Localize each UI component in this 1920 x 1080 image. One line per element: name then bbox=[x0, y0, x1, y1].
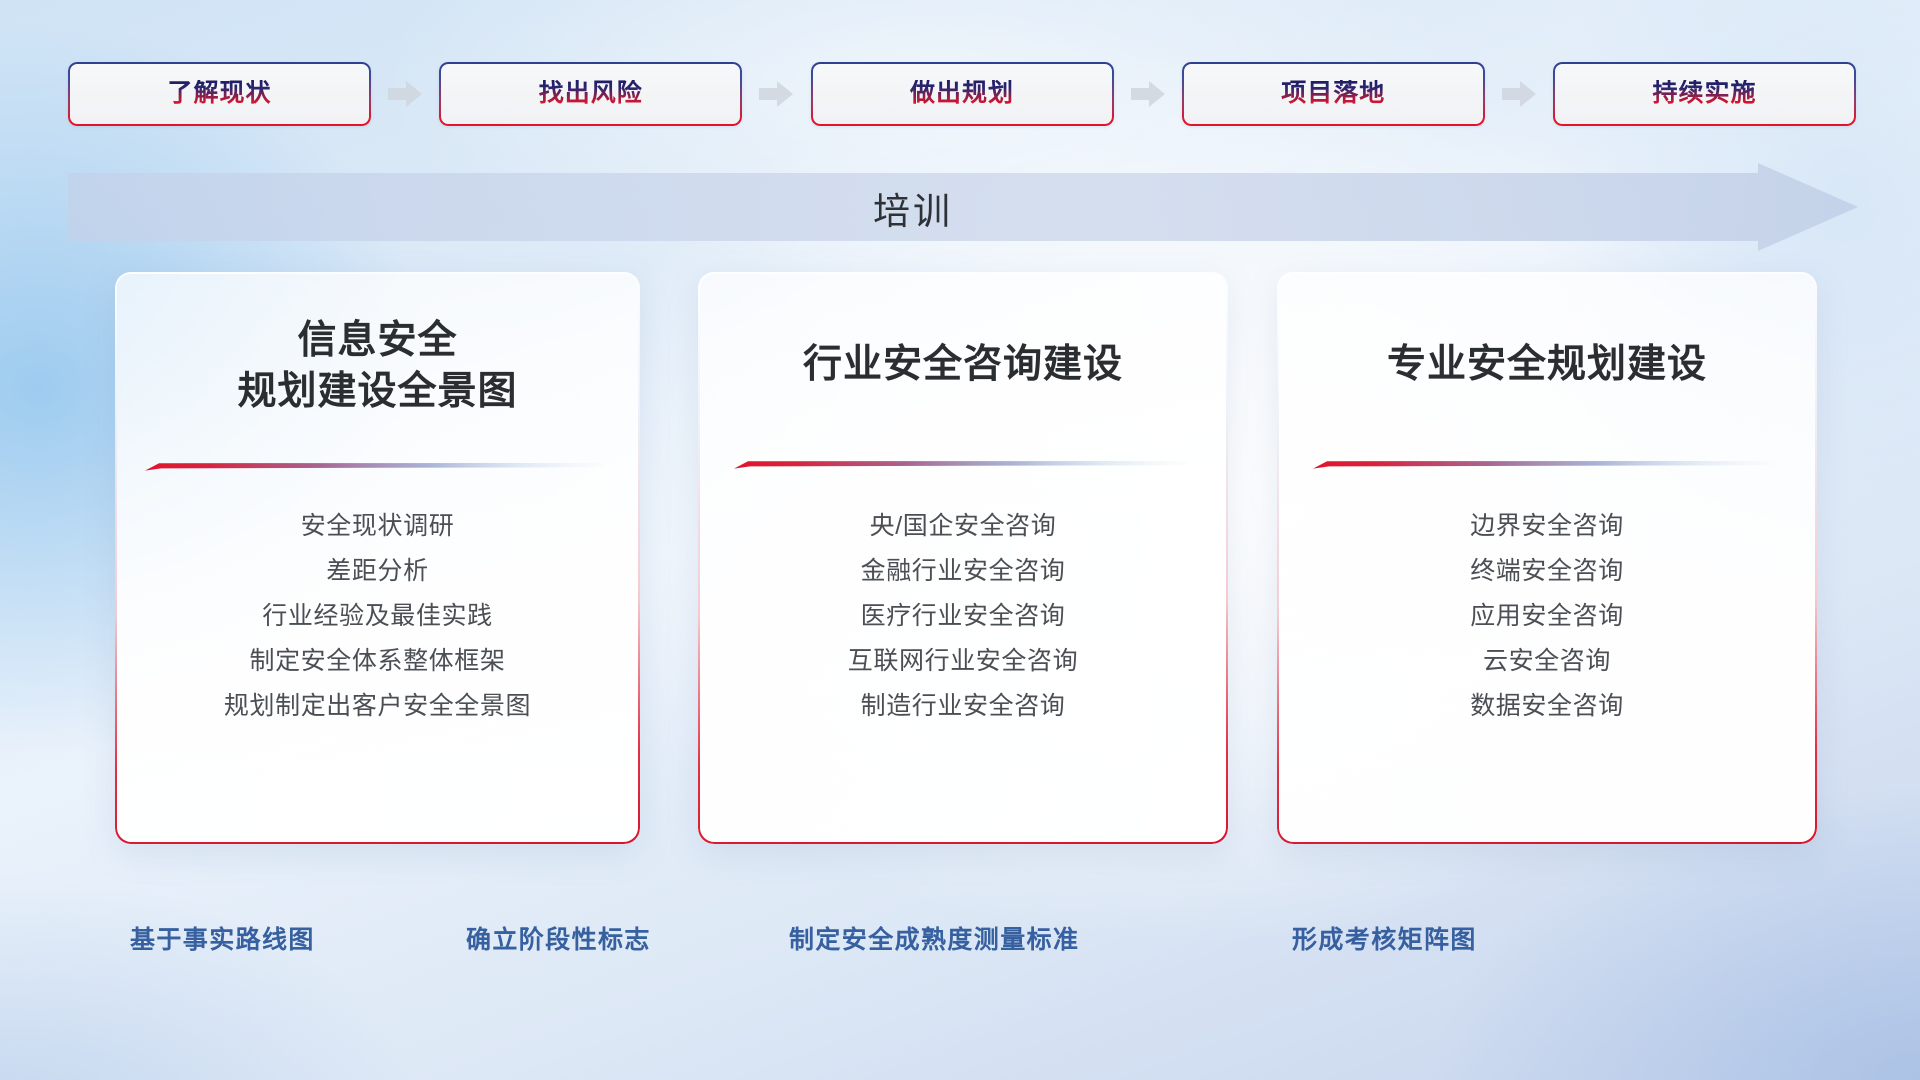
card-item-list: 央/国企安全咨询 金融行业安全咨询 医疗行业安全咨询 互联网行业安全咨询 制造行… bbox=[698, 504, 1228, 729]
caption: 确立阶段性标志 bbox=[466, 920, 651, 956]
list-item: 云安全咨询 bbox=[1277, 639, 1817, 684]
card-item-list: 安全现状调研 差距分析 行业经验及最佳实践 制定安全体系整体框架 规划制定出客户… bbox=[115, 504, 640, 729]
list-item: 行业经验及最佳实践 bbox=[115, 594, 640, 639]
list-item: 金融行业安全咨询 bbox=[698, 549, 1228, 594]
list-item: 应用安全咨询 bbox=[1277, 594, 1817, 639]
list-item: 制定安全体系整体框架 bbox=[115, 639, 640, 684]
list-item: 边界安全咨询 bbox=[1277, 504, 1817, 549]
card-title: 专业安全规划建设 bbox=[1277, 340, 1817, 391]
caption: 形成考核矩阵图 bbox=[1292, 920, 1477, 956]
card-professional-security-planning[interactable]: 专业安全规划建设 bbox=[1277, 272, 1817, 844]
chevron-right-icon bbox=[1502, 81, 1536, 107]
step-pill-4[interactable]: 项目落地 bbox=[1182, 62, 1485, 126]
list-item: 互联网行业安全咨询 bbox=[698, 639, 1228, 684]
training-banner-label: 培训 bbox=[68, 181, 1858, 235]
chevron-right-icon bbox=[759, 81, 793, 107]
step-pill-1[interactable]: 了解现状 bbox=[68, 62, 371, 126]
list-item: 终端安全咨询 bbox=[1277, 549, 1817, 594]
slide-canvas: 了解现状 找出风险 做出规划 项目落地 bbox=[0, 0, 1920, 1080]
chevron-right-icon bbox=[1131, 81, 1165, 107]
list-item: 数据安全咨询 bbox=[1277, 684, 1817, 729]
card-item-list: 边界安全咨询 终端安全咨询 应用安全咨询 云安全咨询 数据安全咨询 bbox=[1277, 504, 1817, 729]
step-pill-label: 找出风险 bbox=[539, 80, 643, 108]
step-pill-5[interactable]: 持续实施 bbox=[1553, 62, 1856, 126]
offering-cards: 信息安全 规划建设全景图 bbox=[0, 272, 1920, 844]
caption: 制定安全成熟度测量标准 bbox=[789, 920, 1079, 956]
list-item: 制造行业安全咨询 bbox=[698, 684, 1228, 729]
step-pill-label: 做出规划 bbox=[910, 80, 1014, 108]
step-pill-2[interactable]: 找出风险 bbox=[439, 62, 742, 126]
list-item: 医疗行业安全咨询 bbox=[698, 594, 1228, 639]
caption: 基于事实路线图 bbox=[130, 920, 315, 956]
list-item: 央/国企安全咨询 bbox=[698, 504, 1228, 549]
card-title-line2: 规划建设全景图 bbox=[115, 367, 640, 418]
list-item: 规划制定出客户安全全景图 bbox=[115, 684, 640, 729]
card-title-line1: 信息安全 bbox=[115, 316, 640, 367]
step-pill-3[interactable]: 做出规划 bbox=[811, 62, 1114, 126]
card-title-line1: 专业安全规划建设 bbox=[1277, 340, 1817, 391]
list-item: 安全现状调研 bbox=[115, 504, 640, 549]
training-banner: 培训 bbox=[68, 163, 1858, 251]
card-title: 行业安全咨询建设 bbox=[698, 340, 1228, 391]
card-divider bbox=[145, 462, 605, 471]
chevron-right-icon bbox=[388, 81, 422, 107]
step-pill-label: 了解现状 bbox=[167, 80, 271, 108]
list-item: 差距分析 bbox=[115, 549, 640, 594]
outcome-captions: 基于事实路线图 确立阶段性标志 制定安全成熟度测量标准 形成考核矩阵图 bbox=[0, 920, 1920, 964]
step-pill-label: 项目落地 bbox=[1281, 80, 1385, 108]
card-industry-security-consulting[interactable]: 行业安全咨询建设 bbox=[698, 272, 1228, 844]
step-pill-label: 持续实施 bbox=[1652, 80, 1756, 108]
card-divider bbox=[734, 460, 1189, 469]
card-information-security-blueprint[interactable]: 信息安全 规划建设全景图 bbox=[115, 272, 640, 844]
card-divider bbox=[1313, 460, 1775, 469]
process-steps: 了解现状 找出风险 做出规划 项目落地 bbox=[68, 62, 1856, 126]
card-title: 信息安全 规划建设全景图 bbox=[115, 316, 640, 417]
card-title-line1: 行业安全咨询建设 bbox=[698, 340, 1228, 391]
